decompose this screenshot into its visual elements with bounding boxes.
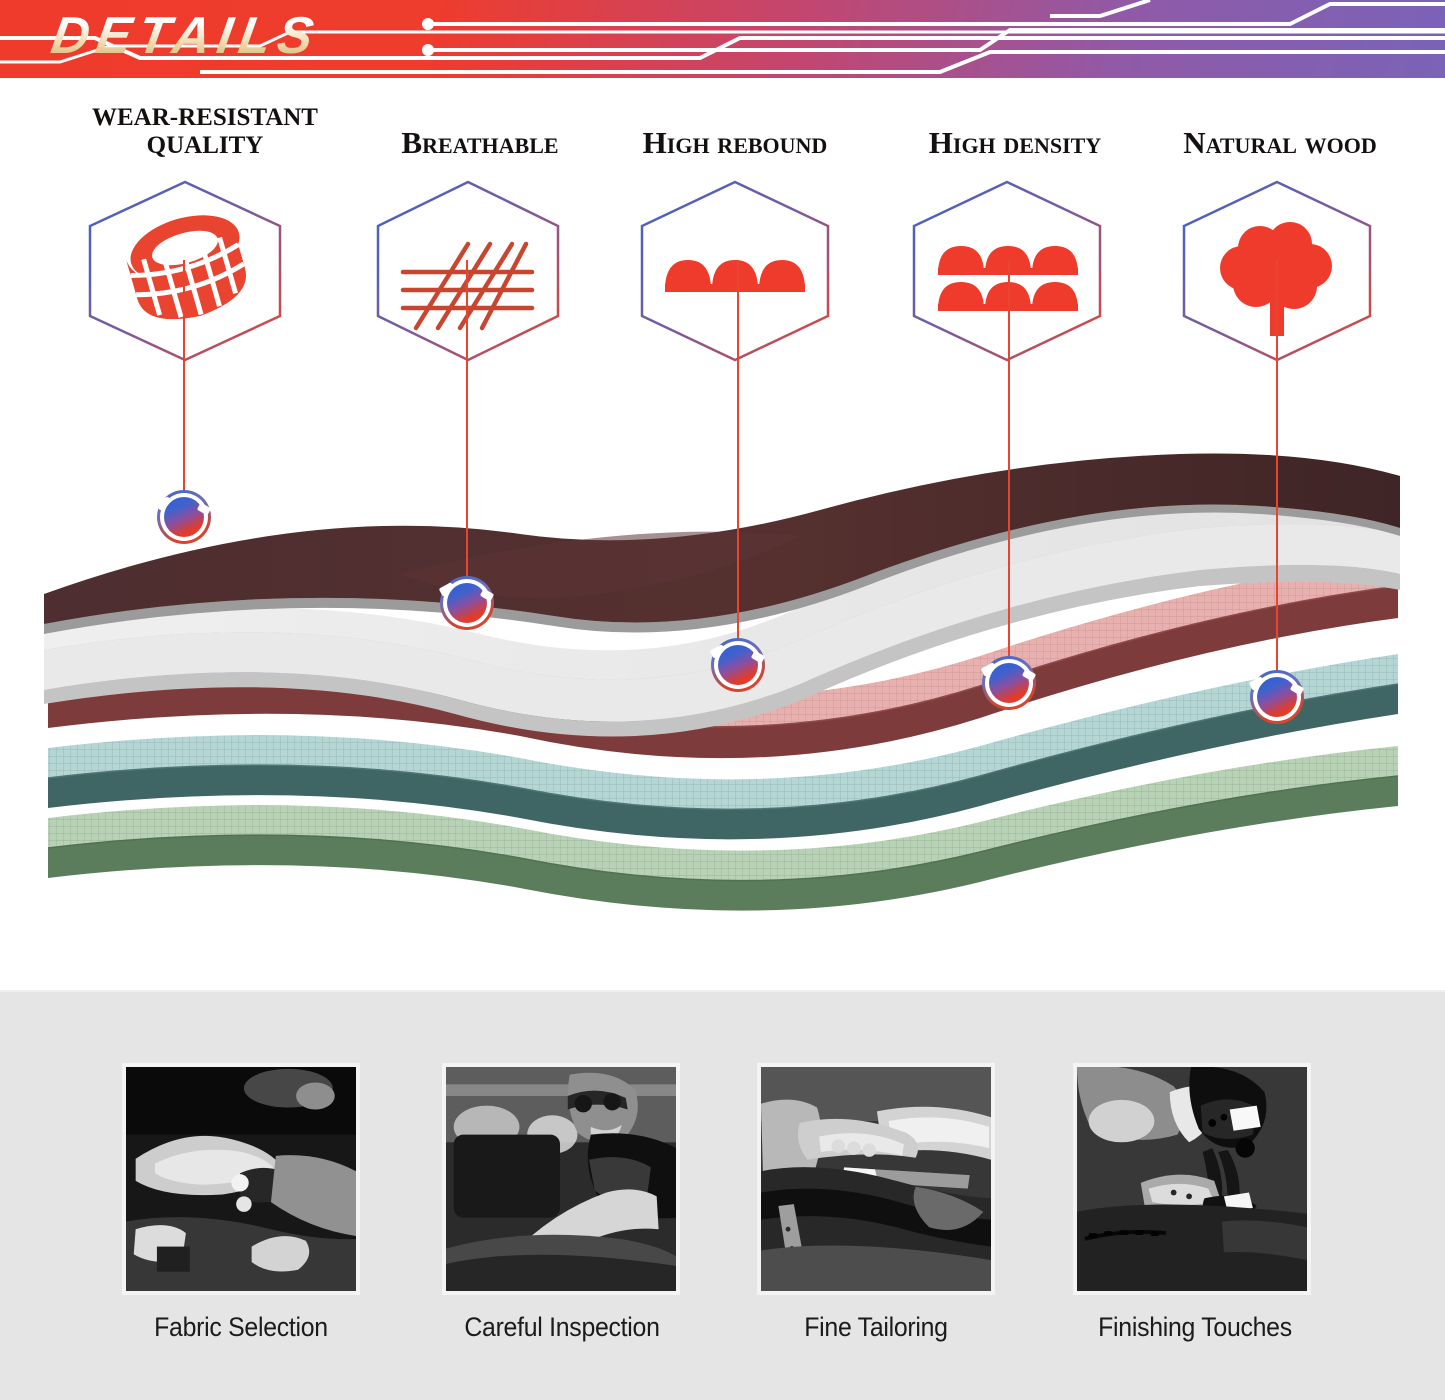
hands-selecting-fabric-photo	[122, 1063, 360, 1295]
circuit-node-dot	[422, 18, 434, 30]
sewing-machine-stitching-photo	[1073, 1063, 1311, 1295]
feature-hexagon-wear-resistant	[80, 176, 290, 366]
circuit-node-dot	[422, 44, 434, 56]
layer-marker-breathable[interactable]	[440, 576, 494, 630]
worker-inspecting-leather-photo	[442, 1063, 680, 1295]
layer-marker-high-density[interactable]	[982, 656, 1036, 710]
feature-label-high-rebound: High rebound	[580, 126, 890, 161]
marker-dot	[989, 663, 1029, 703]
marker-dot	[447, 583, 487, 623]
marker-dot	[164, 497, 204, 537]
feature-label-natural-wood: Natural wood	[1125, 126, 1435, 161]
connector-line-high-density	[1008, 260, 1010, 678]
process-item-fabric-selection[interactable]	[122, 1063, 360, 1295]
connector-line-wear-resistant	[183, 260, 185, 512]
details-header-banner: DETAILS	[0, 0, 1445, 78]
page-title: DETAILS	[47, 5, 324, 67]
layer-marker-wear-resistant[interactable]	[157, 490, 211, 544]
process-item-finishing-touches[interactable]	[1073, 1063, 1311, 1295]
process-caption-fine-tailoring: Fine Tailoring	[738, 1312, 1014, 1343]
three-domes-icon	[665, 260, 805, 292]
feature-hexagon-high-rebound	[630, 176, 840, 366]
marker-dot	[718, 645, 758, 685]
connector-line-high-rebound	[737, 260, 739, 660]
features-section: Wear-resistant quality Breathable High r…	[0, 78, 1445, 990]
feature-hexagon-breathable	[368, 176, 568, 366]
process-item-careful-inspection[interactable]	[442, 1063, 680, 1295]
feature-label-high-density: High density	[860, 126, 1170, 161]
hand-cutting-leather-strip-photo	[757, 1063, 995, 1295]
layer-marker-high-rebound[interactable]	[711, 638, 765, 692]
feature-label-wear-resistant: Wear-resistant quality	[60, 104, 350, 160]
process-item-fine-tailoring[interactable]	[757, 1063, 995, 1295]
connector-line-natural-wood	[1276, 260, 1278, 692]
marker-dot	[1257, 677, 1297, 717]
connector-line-breathable	[466, 260, 468, 598]
process-caption-careful-inspection: Careful Inspection	[424, 1312, 700, 1343]
layer-marker-natural-wood[interactable]	[1250, 670, 1304, 724]
process-caption-finishing-touches: Finishing Touches	[1057, 1312, 1333, 1343]
process-caption-fabric-selection: Fabric Selection	[103, 1312, 379, 1343]
feature-hexagon-high-density	[902, 176, 1112, 366]
